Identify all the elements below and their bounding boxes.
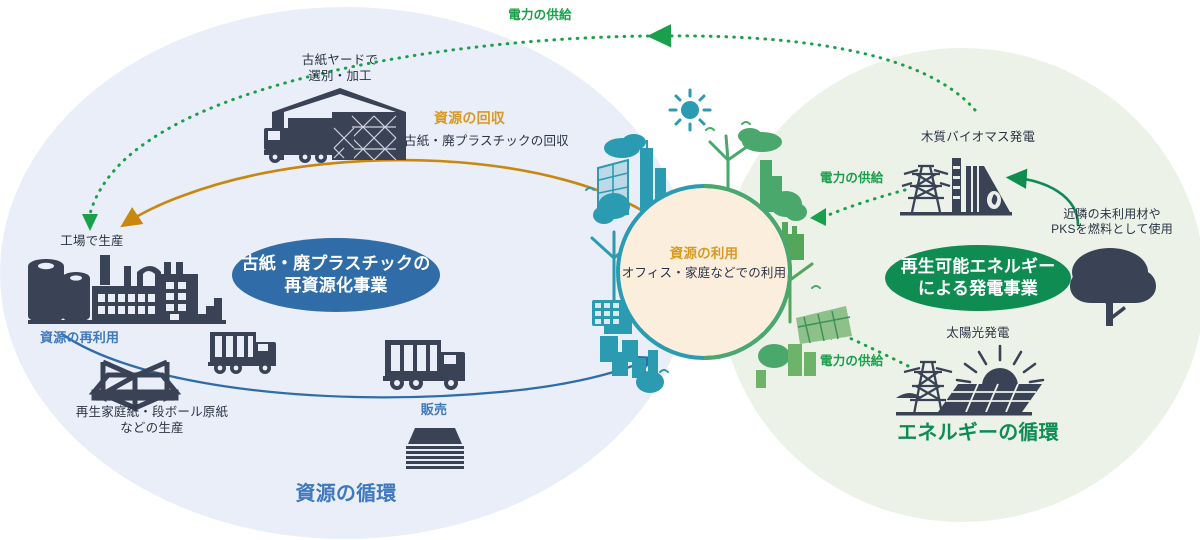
right-pill-line2: による発電事業	[901, 278, 1056, 300]
collection-heading: 資源の回収	[434, 110, 505, 128]
node-label-biomass: 木質バイオマス発電	[921, 129, 1035, 145]
section-title-right: エネルギーの循環	[897, 421, 1059, 447]
node-label-recycled-paper: 再生家庭紙・段ボール原紙 などの生産	[76, 404, 228, 436]
arrow-label-power-supply-solar: 電力の供給	[820, 353, 884, 369]
node-label-fuel-source: 近隣の未利用材や PKSを燃料として使用	[1051, 207, 1173, 238]
right-pill-line1: 再生可能エネルギー	[901, 256, 1056, 278]
left-pill-line1: 古紙・廃プラスチックの	[242, 253, 431, 275]
fuel-source-line2: PKSを燃料として使用	[1051, 222, 1173, 237]
arrow-label-power-supply-biomass: 電力の供給	[820, 170, 884, 186]
recycled-paper-line1: 再生家庭紙・段ボール原紙	[76, 404, 228, 420]
node-label-reuse: 資源の再利用	[40, 330, 119, 347]
diagram-canvas: 古紙・廃プラスチックの 再資源化事業 再生可能エネルギー による発電事業 資源の…	[0, 0, 1200, 540]
paper-yard-line1: 古紙ヤードで	[302, 52, 378, 68]
hub-title: 資源の利用	[670, 245, 739, 262]
hub-subtitle: オフィス・家庭などでの利用	[622, 265, 787, 281]
node-label-sales: 販売	[421, 402, 447, 419]
node-label-paper-yard: 古紙ヤードで 選別・加工	[302, 52, 378, 84]
node-label-solar: 太陽光発電	[946, 325, 1010, 341]
recycled-paper-line2: などの生産	[76, 420, 228, 436]
left-pill-line2: 再資源化事業	[242, 275, 431, 297]
node-label-factory: 工場で生産	[60, 233, 124, 249]
collection-caption: 古紙・廃プラスチックの回収	[404, 133, 569, 149]
right-business-pill-label: 再生可能エネルギー による発電事業	[901, 256, 1056, 301]
paper-yard-line2: 選別・加工	[302, 68, 378, 84]
left-business-pill-label: 古紙・廃プラスチックの 再資源化事業	[242, 253, 431, 298]
fuel-source-line1: 近隣の未利用材や	[1051, 207, 1173, 222]
section-title-left: 資源の循環	[296, 482, 397, 508]
arrow-label-power-supply-top: 電力の供給	[508, 7, 572, 23]
